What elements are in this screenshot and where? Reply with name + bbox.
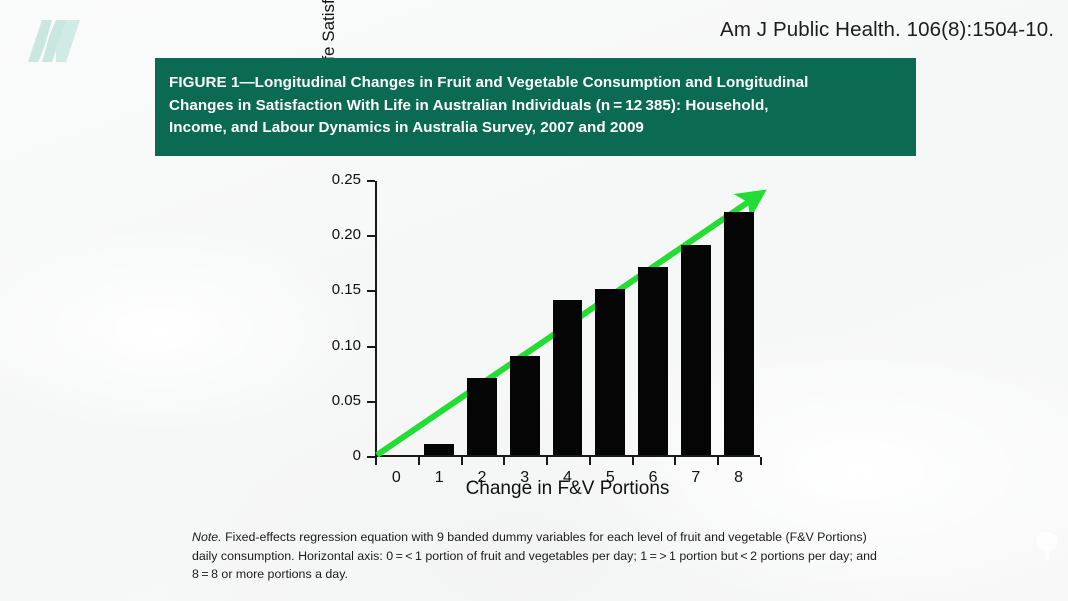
figure-title-line-2: Changes in Satisfaction With Life in Aus…	[169, 95, 900, 118]
journal-citation: Am J Public Health. 106(8):1504-10.	[720, 18, 1054, 42]
figure-note: Note. Fixed-effects regression equation …	[192, 528, 882, 584]
figure-title-line-3: Income, and Labour Dynamics in Australia…	[169, 117, 900, 140]
note-label: Note.	[192, 530, 222, 544]
n-monogram-logo-icon	[22, 18, 84, 64]
figure-title-line-1: FIGURE 1—Longitudinal Changes in Fruit a…	[169, 72, 900, 95]
tree-watermark-icon	[1036, 532, 1058, 562]
figure-title-banner: FIGURE 1—Longitudinal Changes in Fruit a…	[155, 58, 916, 156]
figure-chart	[0, 150, 1068, 520]
note-body: Fixed-effects regression equation with 9…	[192, 530, 877, 581]
